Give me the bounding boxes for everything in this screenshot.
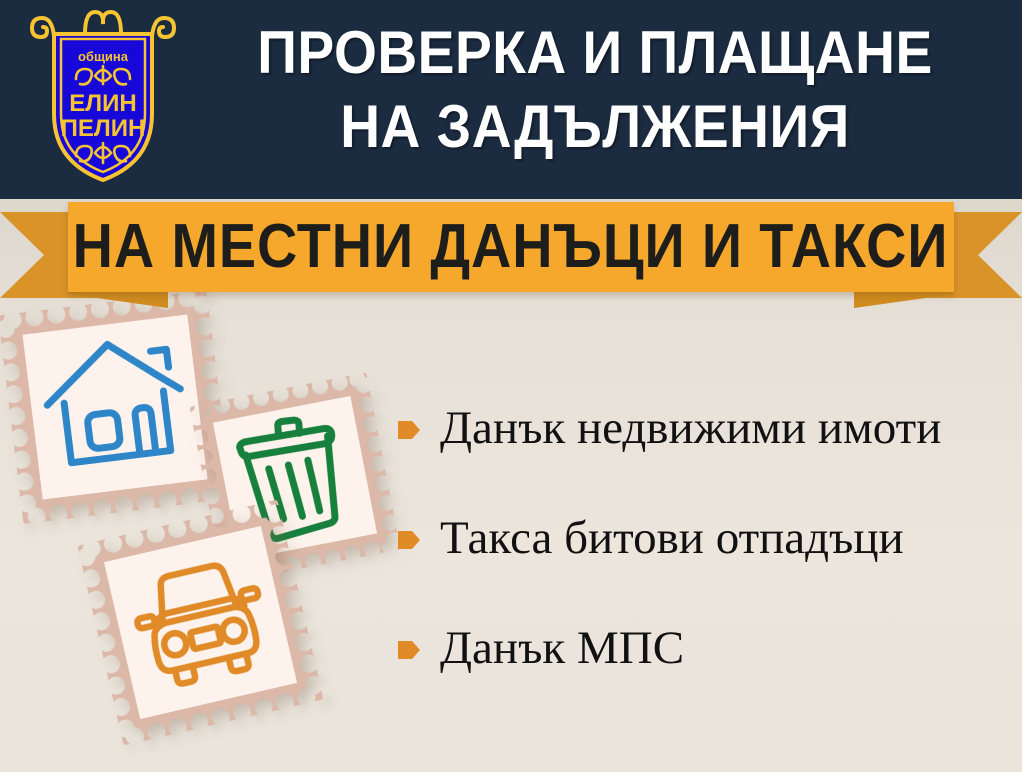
poster-title: ПРОВЕРКА И ПЛАЩАНЕ НА ЗАДЪЛЖЕНИЯ (185, 16, 1005, 164)
stamp-collage (0, 280, 420, 772)
municipality-logo: община ЕЛИН ПЕЛИН (28, 6, 178, 186)
ribbon-label: НА МЕСТНИ ДАНЪЦИ И ТАКСИ (73, 216, 949, 278)
logo-text-pelin: ПЕЛИН (61, 115, 146, 142)
title-line-1: ПРОВЕРКА И ПЛАЩАНЕ (218, 16, 972, 90)
arrow-bullet-icon (396, 417, 422, 443)
list-item-label: Такса битови отпадъци (440, 512, 904, 564)
list-item[interactable]: Такса битови отпадъци (396, 510, 1016, 566)
logo-text-obshtina: община (78, 49, 129, 64)
header-bar: община ЕЛИН ПЕЛИН ПРОВЕРКА И ПЛАЩАНЕ НА … (0, 0, 1022, 199)
poster-canvas: община ЕЛИН ПЕЛИН ПРОВЕРКА И ПЛАЩАНЕ НА … (0, 0, 1022, 772)
logo-text-elin: ЕЛИН (69, 90, 136, 117)
list-item[interactable]: Данък МПС (396, 620, 1016, 676)
title-line-2: НА ЗАДЪЛЖЕНИЯ (218, 90, 972, 164)
list-item-label: Данък МПС (440, 622, 684, 674)
subtitle-ribbon: НА МЕСТНИ ДАНЪЦИ И ТАКСИ (0, 196, 1022, 306)
list-item[interactable]: Данък недвижими имоти (396, 400, 1016, 456)
arrow-bullet-icon (396, 637, 422, 663)
list-item-label: Данък недвижими имоти (440, 402, 941, 454)
tax-type-list: Данък недвижими имоти Такса битови отпад… (396, 400, 1016, 730)
ribbon-banner: НА МЕСТНИ ДАНЪЦИ И ТАКСИ (68, 202, 954, 292)
arrow-bullet-icon (396, 527, 422, 553)
